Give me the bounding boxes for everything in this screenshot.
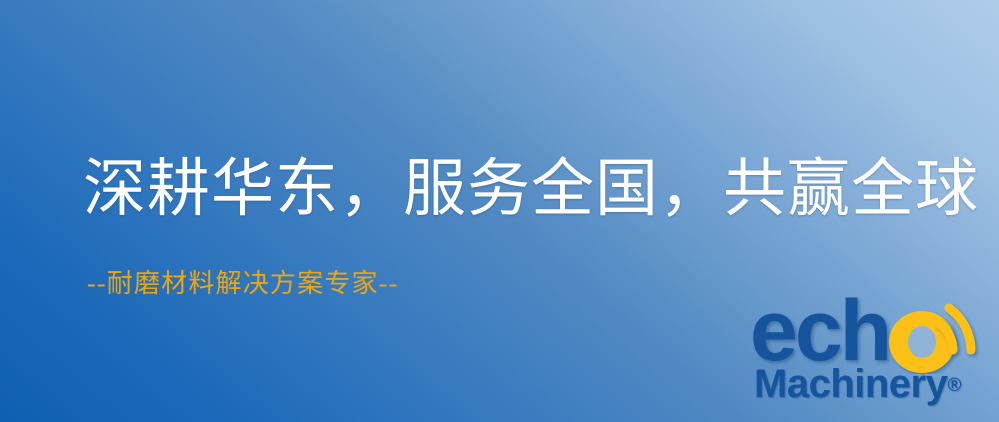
hero-banner: 深耕华东，服务全国，共赢全球 --耐磨材料解决方案专家-- ech — [0, 0, 999, 422]
logo-subword-text: Machinery — [754, 362, 947, 406]
page-subtitle: --耐磨材料解决方案专家-- — [87, 268, 398, 300]
registered-trademark-icon: ® — [947, 375, 961, 396]
logo-subword-machinery: Machinery® — [754, 362, 961, 407]
page-title: 深耕华东，服务全国，共赢全球 — [83, 152, 979, 226]
company-logo: ech Machinery® — [750, 296, 999, 422]
